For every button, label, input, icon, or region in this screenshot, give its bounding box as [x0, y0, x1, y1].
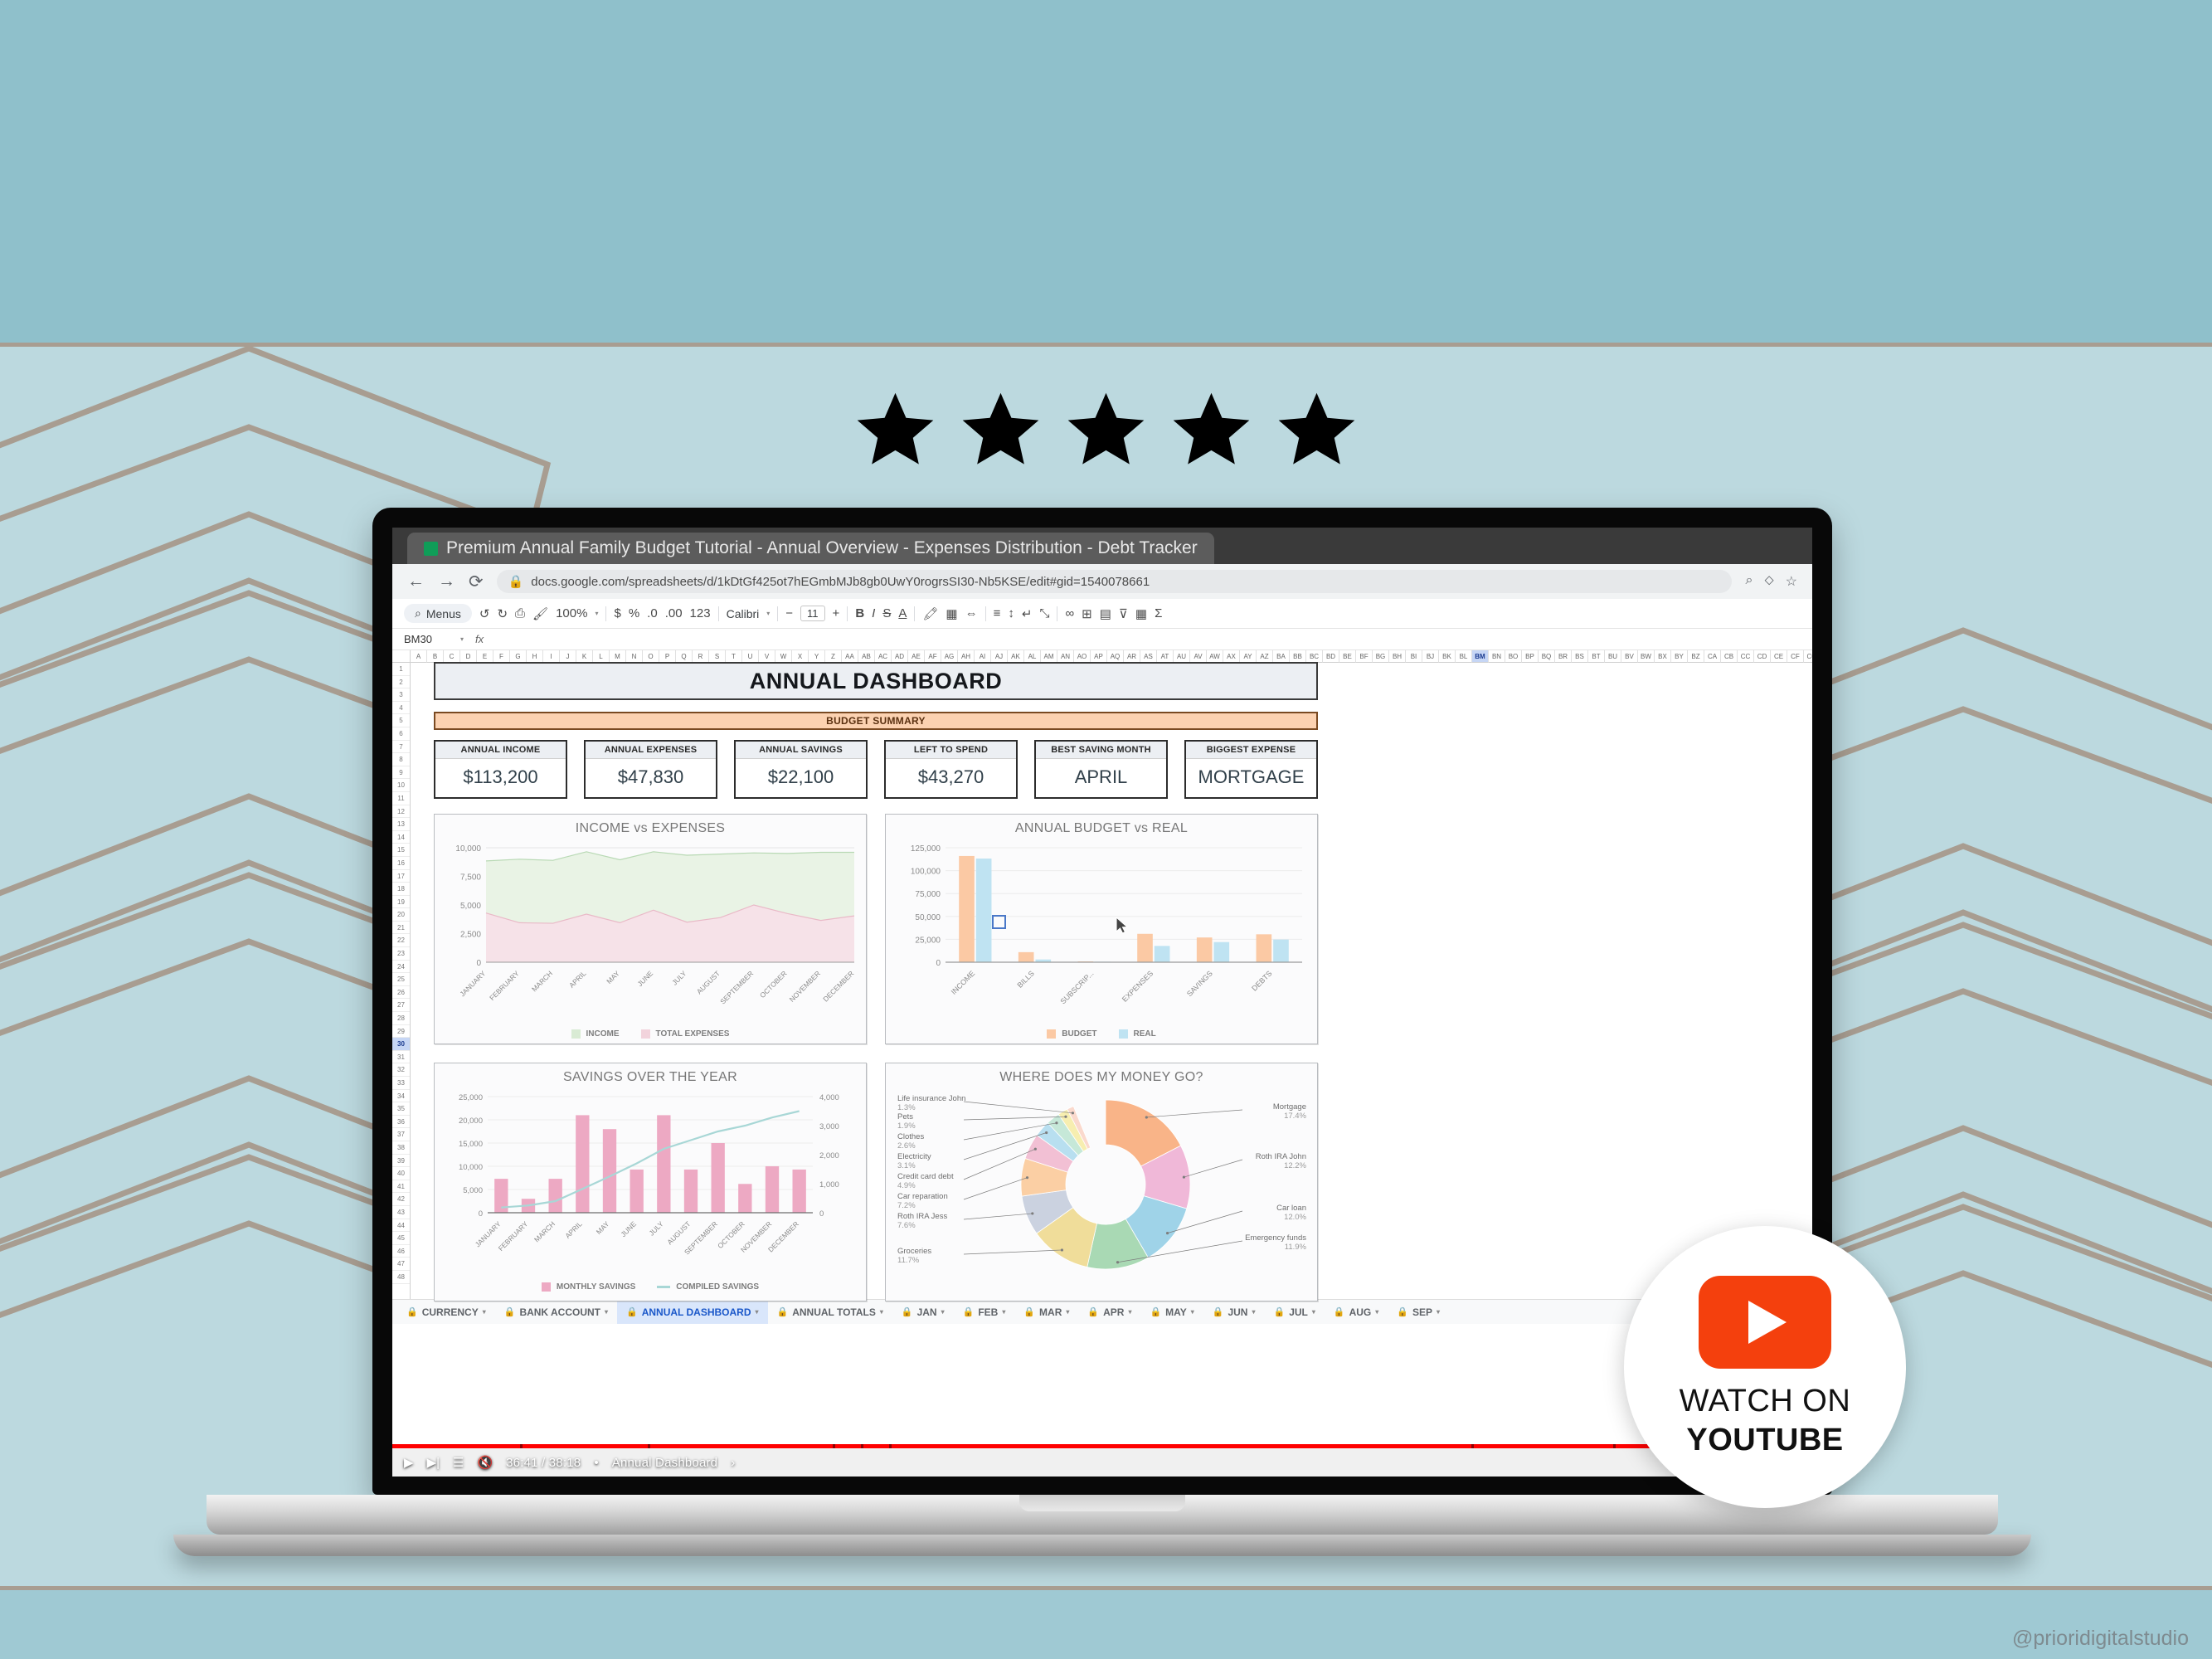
row-header-25[interactable]: 25 — [392, 973, 410, 986]
column-header-BJ[interactable]: BJ — [1422, 650, 1439, 663]
sheet-tab-caret-icon[interactable]: ▾ — [1252, 1308, 1255, 1316]
column-header-AV[interactable]: AV — [1190, 650, 1207, 663]
column-header-CC[interactable]: CC — [1738, 650, 1754, 663]
sheet-tab-label: MAR — [1039, 1306, 1062, 1318]
annual-budget-vs-real-chart[interactable]: ANNUAL BUDGET vs REAL 025,00050,00075,00… — [885, 814, 1318, 1044]
svg-text:Life insurance John: Life insurance John — [897, 1094, 965, 1103]
column-header-AT[interactable]: AT — [1157, 650, 1174, 663]
column-header-D[interactable]: D — [460, 650, 477, 663]
column-header-BX[interactable]: BX — [1655, 650, 1671, 663]
increase-decimal-icon[interactable]: .00 — [665, 606, 683, 620]
svg-text:1.9%: 1.9% — [897, 1121, 916, 1131]
column-header-AZ[interactable]: AZ — [1257, 650, 1273, 663]
svg-text:2,000: 2,000 — [819, 1151, 839, 1160]
row-header-30[interactable]: 30 — [392, 1038, 410, 1051]
column-header-U[interactable]: U — [742, 650, 759, 663]
sheet-tab-label: FEB — [978, 1306, 998, 1318]
row-header-43[interactable]: 43 — [392, 1206, 410, 1219]
sheet-tab-mar[interactable]: 🔒MAR▾ — [1014, 1300, 1078, 1324]
name-box[interactable]: BM30 — [404, 633, 449, 645]
row-header-48[interactable]: 48 — [392, 1271, 410, 1284]
kpi-value: $47,830 — [586, 759, 716, 797]
fill-color-icon[interactable]: 🖍 — [922, 606, 938, 621]
row-header-38[interactable]: 38 — [392, 1141, 410, 1155]
row-header-33[interactable]: 33 — [392, 1077, 410, 1090]
row-header-2[interactable]: 2 — [392, 676, 410, 689]
row-header-31[interactable]: 31 — [392, 1051, 410, 1064]
column-header-BE[interactable]: BE — [1339, 650, 1356, 663]
svg-text:MAY: MAY — [595, 1219, 611, 1236]
watch-on-youtube-badge[interactable]: WATCH ON YOUTUBE — [1624, 1226, 1906, 1508]
calculation-icon[interactable]: ▦ — [1135, 606, 1147, 621]
column-header-AO[interactable]: AO — [1074, 650, 1091, 663]
text-rotation-icon[interactable]: ⤡ — [1039, 606, 1049, 620]
kpi-card: LEFT TO SPEND $43,270 — [884, 740, 1018, 799]
column-header-B[interactable]: B — [427, 650, 444, 663]
chart-title: WHERE DOES MY MONEY GO? — [894, 1070, 1309, 1085]
column-header-BM[interactable]: BM — [1472, 650, 1489, 663]
vertical-align-icon[interactable]: ↕ — [1008, 606, 1014, 620]
row-header-7[interactable]: 7 — [392, 741, 410, 754]
svg-text:2,500: 2,500 — [460, 931, 481, 940]
youtube-play-icon — [1699, 1276, 1831, 1369]
column-header-T[interactable]: T — [726, 650, 742, 663]
column-header-AC[interactable]: AC — [875, 650, 892, 663]
column-header-BP[interactable]: BP — [1522, 650, 1539, 663]
svg-text:0: 0 — [936, 959, 941, 968]
row-header-26[interactable]: 26 — [392, 986, 410, 1000]
row-header-6[interactable]: 6 — [392, 727, 410, 741]
sheet-tab-caret-icon[interactable]: ▾ — [1437, 1308, 1440, 1316]
sheet-tab-feb[interactable]: 🔒FEB▾ — [954, 1300, 1015, 1324]
laptop-lid: Premium Annual Family Budget Tutorial - … — [372, 508, 1832, 1495]
row-header-10[interactable]: 10 — [392, 779, 410, 792]
row-header-19[interactable]: 19 — [392, 896, 410, 909]
toolbar-divider — [914, 606, 915, 621]
lock-icon: 🔒 — [902, 1306, 913, 1317]
sheet-tab-annual-totals[interactable]: 🔒ANNUAL TOTALS▾ — [768, 1300, 892, 1324]
sheet-tab-caret-icon[interactable]: ▾ — [483, 1308, 486, 1316]
column-header-AK[interactable]: AK — [1008, 650, 1024, 663]
font-family-select[interactable]: Calibri — [727, 607, 760, 620]
column-header-BU[interactable]: BU — [1605, 650, 1621, 663]
row-header-23[interactable]: 23 — [392, 947, 410, 961]
column-header-BZ[interactable]: BZ — [1688, 650, 1704, 663]
video-chapter-title[interactable]: Annual Dashboard — [612, 1456, 717, 1470]
mute-icon[interactable]: 🔇 — [477, 1455, 493, 1470]
strikethrough-icon[interactable]: S — [882, 606, 891, 620]
sheet-tab-apr[interactable]: 🔒APR▾ — [1078, 1300, 1140, 1324]
column-header-AQ[interactable]: AQ — [1107, 650, 1124, 663]
sheet-tab-annual-dashboard[interactable]: 🔒ANNUAL DASHBOARD▾ — [617, 1300, 768, 1324]
svg-text:3.1%: 3.1% — [897, 1161, 916, 1170]
svg-text:11.9%: 11.9% — [1285, 1243, 1307, 1252]
sheet-tab-label: AUG — [1349, 1306, 1372, 1318]
row-header-3[interactable]: 3 — [392, 688, 410, 702]
lock-icon: 🔒 — [1213, 1306, 1224, 1317]
column-header-BR[interactable]: BR — [1555, 650, 1572, 663]
laptop-screen: Premium Annual Family Budget Tutorial - … — [392, 528, 1812, 1477]
column-header-CG[interactable]: CG — [1804, 650, 1812, 663]
back-icon[interactable]: ← — [407, 572, 425, 591]
column-header-N[interactable]: N — [626, 650, 643, 663]
row-header-20[interactable]: 20 — [392, 908, 410, 922]
font-size-input[interactable]: 11 — [800, 606, 825, 621]
column-header-AJ[interactable]: AJ — [991, 650, 1008, 663]
column-header-BG[interactable]: BG — [1373, 650, 1389, 663]
extension-icon[interactable]: ⬦ — [1764, 573, 1773, 590]
lock-icon: 🔒 — [777, 1306, 789, 1317]
svg-text:2.6%: 2.6% — [897, 1141, 916, 1151]
column-header-AS[interactable]: AS — [1140, 650, 1157, 663]
row-header-46[interactable]: 46 — [392, 1245, 410, 1258]
sheet-tab-caret-icon[interactable]: ▾ — [605, 1308, 608, 1316]
svg-text:Emergency funds: Emergency funds — [1245, 1233, 1306, 1243]
sheet-tab-label: CURRENCY — [422, 1306, 479, 1318]
column-header-AG[interactable]: AG — [941, 650, 958, 663]
row-header-36[interactable]: 36 — [392, 1116, 410, 1129]
youtube-badge-line-1: WATCH ON — [1680, 1384, 1851, 1419]
row-header-12[interactable]: 12 — [392, 805, 410, 819]
sheet-tab-may[interactable]: 🔒MAY▾ — [1140, 1300, 1203, 1324]
kpi-value: $22,100 — [736, 759, 866, 797]
svg-text:10,000: 10,000 — [459, 1163, 483, 1172]
svg-text:DEBTS: DEBTS — [1250, 969, 1273, 992]
column-header-CB[interactable]: CB — [1721, 650, 1738, 663]
row-header-34[interactable]: 34 — [392, 1090, 410, 1103]
charts-grid: INCOME vs EXPENSES 02,5005,0007,50010,00… — [434, 814, 1318, 1301]
svg-text:1.3%: 1.3% — [897, 1103, 916, 1112]
merge-cells-icon[interactable]: ⇔ — [965, 606, 978, 620]
row-header-22[interactable]: 22 — [392, 934, 410, 947]
svg-text:Roth IRA Jess: Roth IRA Jess — [897, 1212, 947, 1221]
legend-label: COMPILED SAVINGS — [676, 1282, 759, 1292]
paint-format-icon[interactable]: 🖌 — [532, 606, 548, 621]
kpi-label: BEST SAVING MONTH — [1036, 742, 1166, 759]
playlist-menu-icon[interactable]: ☰ — [453, 1455, 464, 1470]
legend-label: BUDGET — [1062, 1029, 1096, 1039]
svg-text:Car reparation: Car reparation — [897, 1192, 948, 1201]
svg-text:Roth IRA John: Roth IRA John — [1256, 1152, 1306, 1161]
row-header-17[interactable]: 17 — [392, 870, 410, 883]
row-header-29[interactable]: 29 — [392, 1025, 410, 1039]
toolbar-divider — [777, 606, 778, 621]
decrease-font-size-icon[interactable]: − — [785, 606, 793, 620]
text-wrap-icon[interactable]: ↵ — [1022, 606, 1033, 621]
column-header-AA[interactable]: AA — [842, 650, 858, 663]
row-header-14[interactable]: 14 — [392, 831, 410, 844]
currency-format-icon[interactable]: $ — [614, 606, 620, 620]
column-header-BV[interactable]: BV — [1621, 650, 1638, 663]
svg-text:17.4%: 17.4% — [1284, 1112, 1306, 1121]
sheet-tab-jun[interactable]: 🔒JUN▾ — [1203, 1300, 1265, 1324]
svg-text:SUBSCRIP...: SUBSCRIP... — [1058, 969, 1095, 1005]
column-header-CF[interactable]: CF — [1787, 650, 1804, 663]
lock-icon: 🔒 — [963, 1306, 975, 1317]
number-format-icon[interactable]: 123 — [690, 606, 711, 620]
percent-format-icon[interactable]: % — [629, 606, 639, 620]
svg-text:Credit card debt: Credit card debt — [897, 1172, 954, 1181]
column-header-BS[interactable]: BS — [1572, 650, 1588, 663]
column-header-J[interactable]: J — [560, 650, 576, 663]
row-header-1[interactable]: 1 — [392, 663, 410, 676]
column-header-BT[interactable]: BT — [1588, 650, 1605, 663]
column-header-AH[interactable]: AH — [958, 650, 975, 663]
bookmark-star-icon[interactable]: ☆ — [1786, 573, 1797, 590]
column-header-AL[interactable]: AL — [1024, 650, 1041, 663]
video-progress-bar[interactable] — [392, 1444, 1812, 1448]
star-icon — [1168, 390, 1255, 473]
column-header-G[interactable]: G — [510, 650, 527, 663]
column-header-I[interactable]: I — [543, 650, 560, 663]
column-header-BA[interactable]: BA — [1273, 650, 1290, 663]
filter-icon[interactable]: ⊽ — [1119, 606, 1128, 621]
sheet-tab-caret-icon[interactable]: ▾ — [941, 1308, 945, 1316]
browser-tab[interactable]: Premium Annual Family Budget Tutorial - … — [407, 533, 1214, 564]
column-header-X[interactable]: X — [792, 650, 809, 663]
column-header-V[interactable]: V — [759, 650, 775, 663]
column-header-AF[interactable]: AF — [925, 650, 941, 663]
chart-title: ANNUAL BUDGET vs REAL — [894, 821, 1309, 836]
row-header-44[interactable]: 44 — [392, 1219, 410, 1233]
text-color-icon[interactable]: A — [898, 606, 907, 620]
row-header-18[interactable]: 18 — [392, 883, 410, 896]
row-header-13[interactable]: 13 — [392, 818, 410, 831]
print-icon[interactable]: ⎙ — [515, 606, 525, 620]
star-icon — [957, 390, 1044, 473]
svg-text:JULY: JULY — [647, 1219, 665, 1238]
zoom-level[interactable]: 100% — [556, 606, 587, 620]
column-header-BY[interactable]: BY — [1671, 650, 1688, 663]
svg-text:15,000: 15,000 — [459, 1140, 483, 1149]
sheet-tab-jul[interactable]: 🔒JUL▾ — [1264, 1300, 1324, 1324]
svg-text:FEBRUARY: FEBRUARY — [488, 969, 521, 1002]
row-header-37[interactable]: 37 — [392, 1128, 410, 1141]
savings-over-the-year-chart[interactable]: SAVINGS OVER THE YEAR 05,00010,00015,000… — [434, 1063, 867, 1301]
sheet-tab-caret-icon[interactable]: ▾ — [1191, 1308, 1194, 1316]
where-does-my-money-go-chart[interactable]: WHERE DOES MY MONEY GO? Mortgage17.4%Rot… — [885, 1063, 1318, 1301]
column-header-F[interactable]: F — [493, 650, 510, 663]
svg-text:12.2%: 12.2% — [1284, 1161, 1306, 1170]
functions-icon[interactable]: Σ — [1155, 606, 1162, 620]
increase-font-size-icon[interactable]: + — [833, 606, 840, 620]
reload-icon[interactable]: ⟳ — [469, 572, 484, 592]
sheet-tab-label: MAY — [1165, 1306, 1187, 1318]
column-header-Y[interactable]: Y — [809, 650, 825, 663]
column-header-BL[interactable]: BL — [1456, 650, 1472, 663]
row-header-47[interactable]: 47 — [392, 1258, 410, 1271]
column-header-AP[interactable]: AP — [1091, 650, 1107, 663]
column-header-BI[interactable]: BI — [1406, 650, 1422, 663]
legend-item: BUDGET — [1047, 1029, 1096, 1039]
column-header-BW[interactable]: BW — [1638, 650, 1655, 663]
row-header-41[interactable]: 41 — [392, 1180, 410, 1194]
bold-icon[interactable]: B — [855, 606, 864, 620]
column-header-BF[interactable]: BF — [1356, 650, 1373, 663]
column-header-AI[interactable]: AI — [975, 650, 991, 663]
row-header-9[interactable]: 9 — [392, 766, 410, 780]
column-header-A[interactable]: A — [411, 650, 427, 663]
row-header-16[interactable]: 16 — [392, 857, 410, 870]
play-button[interactable]: ▶ — [404, 1455, 414, 1470]
column-header-AY[interactable]: AY — [1240, 650, 1257, 663]
svg-text:0: 0 — [479, 1209, 483, 1219]
row-header-24[interactable]: 24 — [392, 961, 410, 974]
chart-legend: MONTHLY SAVINGS COMPILED SAVINGS — [443, 1282, 858, 1292]
forward-icon[interactable]: → — [438, 572, 455, 591]
browser-omnibar: ← → ⟳ 🔒 docs.google.com/spreadsheets/d/1… — [392, 564, 1812, 599]
sheet-tab-bank-account[interactable]: 🔒BANK ACCOUNT▾ — [495, 1300, 617, 1324]
svg-text:APRIL: APRIL — [563, 1219, 584, 1240]
svg-text:APRIL: APRIL — [567, 969, 588, 990]
svg-text:INCOME: INCOME — [950, 969, 977, 996]
sheet-tab-caret-icon[interactable]: ▾ — [1375, 1308, 1378, 1316]
chapter-chevron-icon[interactable]: › — [731, 1456, 735, 1470]
legend-item: TOTAL EXPENSES — [641, 1029, 730, 1039]
column-header-BB[interactable]: BB — [1290, 650, 1306, 663]
sheet-tab-aug[interactable]: 🔒AUG▾ — [1325, 1300, 1388, 1324]
column-header-BN[interactable]: BN — [1489, 650, 1505, 663]
column-header-BH[interactable]: BH — [1389, 650, 1406, 663]
legend-item: INCOME — [571, 1029, 620, 1039]
column-header-BD[interactable]: BD — [1323, 650, 1339, 663]
row-header-11[interactable]: 11 — [392, 792, 410, 805]
column-header-AM[interactable]: AM — [1041, 650, 1057, 663]
lock-icon: 🔒 — [406, 1306, 418, 1317]
svg-text:JULY: JULY — [670, 969, 688, 987]
column-header-CE[interactable]: CE — [1771, 650, 1787, 663]
youtube-badge-line-2: YOUTUBE — [1686, 1423, 1843, 1458]
kpi-label: ANNUAL EXPENSES — [586, 742, 716, 759]
toolbar-divider — [985, 606, 986, 621]
font-caret-icon[interactable]: ▾ — [766, 610, 770, 617]
video-timestamp: 36:41 / 38:18 — [506, 1456, 581, 1470]
column-header-L[interactable]: L — [593, 650, 610, 663]
row-header-40[interactable]: 40 — [392, 1167, 410, 1180]
row-header-4[interactable]: 4 — [392, 702, 410, 715]
sheet-tab-sep[interactable]: 🔒SEP▾ — [1388, 1300, 1449, 1324]
svg-text:3,000: 3,000 — [819, 1122, 839, 1131]
video-progress-fill — [392, 1444, 1753, 1448]
search-icon[interactable]: ⌕ — [1745, 573, 1753, 590]
column-header-CD[interactable]: CD — [1754, 650, 1771, 663]
column-header-AE[interactable]: AE — [908, 650, 925, 663]
sheet-tab-caret-icon[interactable]: ▾ — [1312, 1308, 1315, 1316]
column-header-BC[interactable]: BC — [1306, 650, 1323, 663]
footer-band — [0, 1586, 2212, 1659]
column-header-BK[interactable]: BK — [1439, 650, 1456, 663]
sheet-tab-caret-icon[interactable]: ▾ — [755, 1308, 758, 1316]
svg-text:125,000: 125,000 — [911, 844, 941, 854]
row-header-32[interactable]: 32 — [392, 1063, 410, 1077]
column-header-H[interactable]: H — [527, 650, 543, 663]
row-header-27[interactable]: 27 — [392, 999, 410, 1012]
next-video-button[interactable]: ▶| — [427, 1455, 440, 1470]
undo-icon[interactable]: ↺ — [479, 606, 490, 621]
column-header-AU[interactable]: AU — [1174, 650, 1190, 663]
row-header-45[interactable]: 45 — [392, 1232, 410, 1245]
sheet-tab-caret-icon[interactable]: ▾ — [1066, 1308, 1069, 1316]
svg-text:JUNE: JUNE — [635, 969, 654, 988]
sheet-canvas[interactable]: ABCDEFGHIJKLMNOPQRSTUVWXYZAAABACADAEAFAG… — [411, 650, 1812, 1299]
column-header-W[interactable]: W — [775, 650, 792, 663]
sheet-tab-currency[interactable]: 🔒CURRENCY▾ — [397, 1300, 495, 1324]
lock-icon: 🔒 — [1334, 1306, 1345, 1317]
row-header-42[interactable]: 42 — [392, 1193, 410, 1206]
column-header-AR[interactable]: AR — [1124, 650, 1140, 663]
row-header-5[interactable]: 5 — [392, 714, 410, 727]
svg-text:DECEMBER: DECEMBER — [821, 969, 855, 1003]
insert-comment-icon[interactable]: ⊞ — [1082, 606, 1092, 621]
column-header-S[interactable]: S — [709, 650, 726, 663]
legend-item: COMPILED SAVINGS — [657, 1282, 759, 1292]
column-header-row: ABCDEFGHIJKLMNOPQRSTUVWXYZAAABACADAEAFAG… — [411, 650, 1812, 663]
italic-icon[interactable]: I — [872, 606, 875, 620]
chart-legend: BUDGET REAL — [894, 1029, 1309, 1039]
column-header-AN[interactable]: AN — [1057, 650, 1074, 663]
row-header-8[interactable]: 8 — [392, 753, 410, 766]
insert-chart-icon[interactable]: ▤ — [1100, 606, 1111, 621]
column-header-Q[interactable]: Q — [676, 650, 693, 663]
row-header-15[interactable]: 15 — [392, 844, 410, 857]
column-header-AX[interactable]: AX — [1223, 650, 1240, 663]
menus-button[interactable]: ⌕ Menus — [404, 604, 472, 623]
legend-label: REAL — [1134, 1029, 1156, 1039]
column-header-P[interactable]: P — [659, 650, 676, 663]
column-header-BQ[interactable]: BQ — [1539, 650, 1555, 663]
redo-icon[interactable]: ↻ — [497, 606, 508, 621]
lock-icon: 🔒 — [1023, 1306, 1035, 1317]
kpi-card: ANNUAL EXPENSES $47,830 — [584, 740, 717, 799]
sheet-tab-caret-icon[interactable]: ▾ — [1002, 1308, 1005, 1316]
borders-icon[interactable]: ▦ — [946, 606, 957, 621]
column-header-AD[interactable]: AD — [892, 650, 908, 663]
column-header-AB[interactable]: AB — [858, 650, 875, 663]
column-header-R[interactable]: R — [693, 650, 709, 663]
column-header-AW[interactable]: AW — [1207, 650, 1223, 663]
column-header-CA[interactable]: CA — [1704, 650, 1721, 663]
kpi-label: LEFT TO SPEND — [886, 742, 1016, 759]
column-header-C[interactable]: C — [444, 650, 460, 663]
address-bar[interactable]: 🔒 docs.google.com/spreadsheets/d/1kDtGf4… — [497, 570, 1733, 593]
sheet-tab-caret-icon[interactable]: ▾ — [1128, 1308, 1131, 1316]
row-header-28[interactable]: 28 — [392, 1012, 410, 1025]
grid-corner[interactable] — [392, 650, 410, 663]
income-vs-expenses-chart[interactable]: INCOME vs EXPENSES 02,5005,0007,50010,00… — [434, 814, 867, 1044]
column-header-K[interactable]: K — [576, 650, 593, 663]
insert-link-icon[interactable]: ∞ — [1065, 606, 1074, 620]
sheet-tab-caret-icon[interactable]: ▾ — [880, 1308, 883, 1316]
horizontal-align-icon[interactable]: ≡ — [994, 606, 1001, 620]
row-header-39[interactable]: 39 — [392, 1155, 410, 1168]
name-box-caret-icon[interactable]: ▾ — [460, 635, 464, 643]
kpi-card: ANNUAL INCOME $113,200 — [434, 740, 567, 799]
column-header-E[interactable]: E — [477, 650, 493, 663]
row-header-35[interactable]: 35 — [392, 1102, 410, 1116]
toolbar-divider — [605, 606, 606, 621]
column-header-Z[interactable]: Z — [825, 650, 842, 663]
zoom-caret-icon[interactable]: ▾ — [595, 610, 598, 617]
svg-text:AUGUST: AUGUST — [695, 969, 722, 995]
column-header-BO[interactable]: BO — [1505, 650, 1522, 663]
sheet-tab-jan[interactable]: 🔒JAN▾ — [892, 1300, 954, 1324]
decrease-decimal-icon[interactable]: .0 — [647, 606, 658, 620]
kpi-label: BIGGEST EXPENSE — [1186, 742, 1316, 759]
column-header-O[interactable]: O — [643, 650, 659, 663]
row-header-21[interactable]: 21 — [392, 922, 410, 935]
watermark: @prioridigitalstudio — [2012, 1627, 2189, 1651]
column-header-M[interactable]: M — [610, 650, 626, 663]
